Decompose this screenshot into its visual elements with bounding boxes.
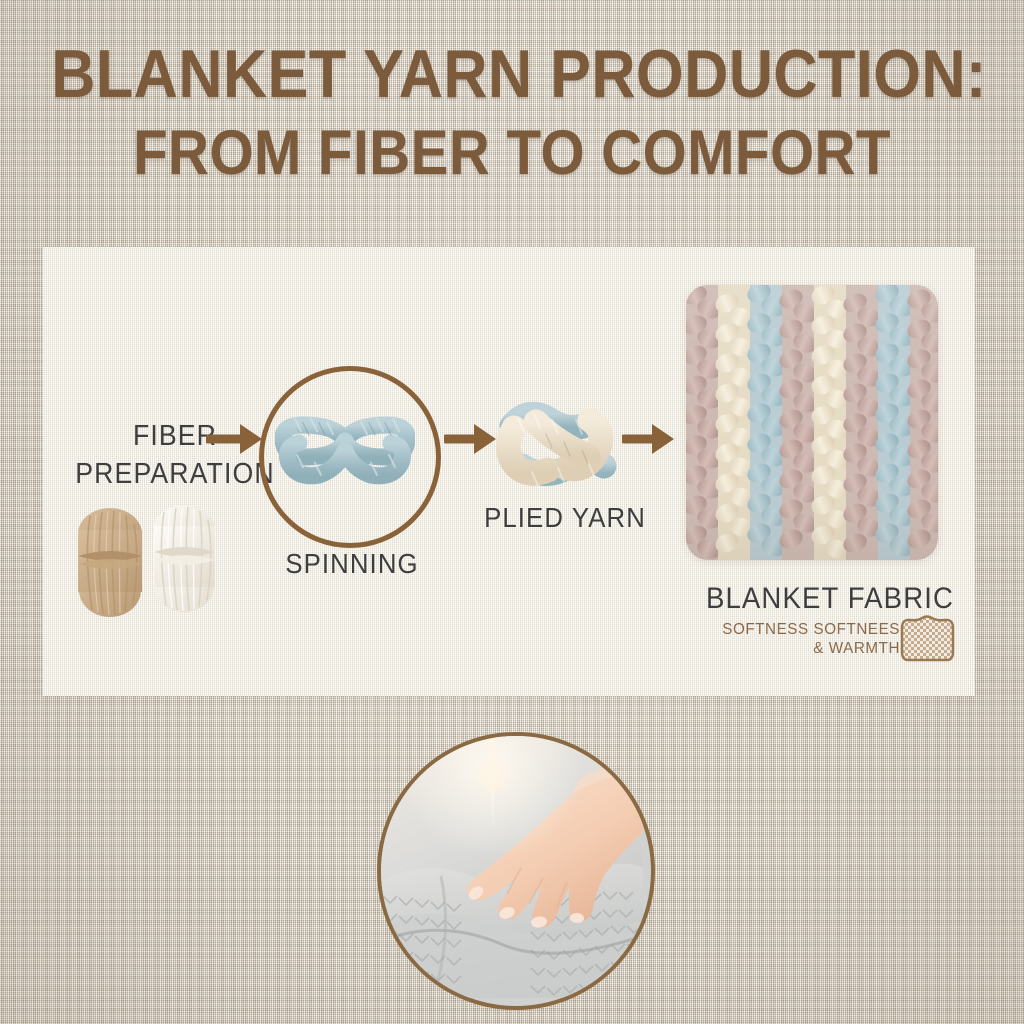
plied-yarn-knot-icon <box>492 392 622 498</box>
woven-fabric-badge-icon <box>896 614 958 664</box>
step-label-spinning: SPINNING <box>255 548 448 580</box>
softness-caption-line-1: SOFTNESS SOFTNEES <box>701 620 901 639</box>
softness-warmth-caption: SOFTNESS SOFTNEES & WARMTH <box>701 620 901 658</box>
title-line-2: FROM FIBER TO COMFORT <box>51 120 973 186</box>
infographic-canvas: BLANKET YARN PRODUCTION: FROM FIBER TO C… <box>0 0 1024 1024</box>
twisted-yarn-infinity-icon <box>275 395 415 512</box>
page-title: BLANKET YARN PRODUCTION: FROM FIBER TO C… <box>0 38 1024 186</box>
title-line-1: BLANKET YARN PRODUCTION: <box>51 38 973 110</box>
softness-caption-line-2: & WARMTH <box>701 639 901 658</box>
step-label-plied-yarn: PLIED YARN <box>459 502 671 534</box>
arrow-right-icon-3 <box>622 418 680 465</box>
step-label-blanket-fabric: BLANKET FABRIC <box>701 582 959 616</box>
hand-on-knitted-blanket-photo <box>377 732 655 1010</box>
yarn-skeins-icon <box>62 500 242 625</box>
knitted-swatch-icon <box>686 285 938 560</box>
